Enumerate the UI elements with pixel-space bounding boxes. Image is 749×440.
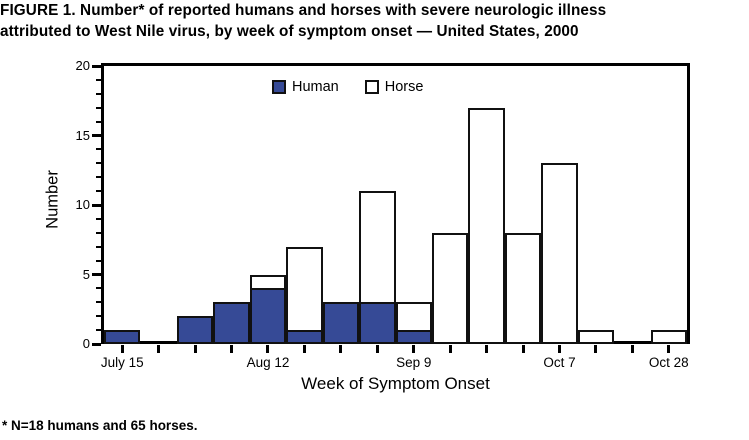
x-axis-tick <box>230 345 233 353</box>
x-axis-tick <box>485 345 488 353</box>
x-axis-tick <box>157 345 160 353</box>
y-axis-tick-minor <box>96 148 101 150</box>
x-axis-tick <box>522 345 525 353</box>
x-axis-tick <box>266 345 269 353</box>
y-axis-tick-minor <box>96 121 101 123</box>
x-axis-tick <box>376 345 379 353</box>
legend-item-human: Human <box>272 80 339 95</box>
y-axis-tick-label: 20 <box>60 58 90 73</box>
x-axis-tick <box>449 345 452 353</box>
x-axis-tick-label: Aug 12 <box>247 355 290 370</box>
y-axis-tick-minor <box>96 287 101 289</box>
y-axis-tick-label: 10 <box>60 197 90 212</box>
legend-item-horse: Horse <box>365 80 424 95</box>
y-axis-tick-minor <box>96 315 101 317</box>
bar-human <box>213 302 249 344</box>
bar-human <box>359 302 395 344</box>
bar-human <box>250 288 286 344</box>
y-axis-tick-minor <box>96 218 101 220</box>
x-axis-tick-label: Oct 28 <box>649 355 689 370</box>
chart-area: 05101520 Number Human Horse Week of Symp… <box>0 0 749 440</box>
y-axis-tick-minor <box>96 107 101 109</box>
x-axis-tick <box>121 345 124 353</box>
figure-footnote: * N=18 humans and 65 horses. <box>2 418 742 433</box>
legend-swatch-human-icon <box>272 80 286 94</box>
y-axis-tick-major <box>92 134 101 137</box>
y-axis-tick-minor <box>96 176 101 178</box>
bar-horse <box>541 163 577 344</box>
bar-horse <box>505 233 541 344</box>
x-axis-tick <box>558 345 561 353</box>
x-axis-tick <box>594 345 597 353</box>
x-axis-tick-label: Sep 9 <box>396 355 431 370</box>
y-axis-title: Number <box>44 140 63 260</box>
y-axis-tick-minor <box>96 246 101 248</box>
y-axis-tick-major <box>92 273 101 276</box>
bar-human <box>177 316 213 344</box>
legend-swatch-horse-icon <box>365 80 379 94</box>
y-axis-tick-minor <box>96 329 101 331</box>
bar-human <box>104 330 140 344</box>
bar-human <box>396 330 432 344</box>
x-axis-tick <box>667 345 670 353</box>
y-axis-tick-minor <box>96 301 101 303</box>
bar-horse <box>432 233 468 344</box>
x-axis-tick <box>339 345 342 353</box>
x-axis-tick-label: July 15 <box>101 355 144 370</box>
y-axis-tick-label: 15 <box>60 128 90 143</box>
bar-horse <box>578 330 614 344</box>
bar-human <box>286 330 322 344</box>
y-axis-tick-label: 5 <box>60 267 90 282</box>
x-axis-title: Week of Symptom Onset <box>101 374 690 394</box>
y-axis-tick-minor <box>96 79 101 81</box>
bar-human <box>323 302 359 344</box>
y-axis-tick-major <box>92 65 101 68</box>
y-axis-tick-minor <box>96 93 101 95</box>
y-axis-tick-major <box>92 204 101 207</box>
legend-label-horse: Horse <box>385 80 424 95</box>
chart-legend: Human Horse <box>272 80 423 95</box>
footnote-text: N=18 humans and 65 horses. <box>7 418 197 433</box>
bar-horse <box>651 330 687 344</box>
y-axis-tick-minor <box>96 162 101 164</box>
y-axis-tick-label: 0 <box>60 336 90 351</box>
y-axis-tick-major <box>92 343 101 346</box>
x-axis-tick-label: Oct 7 <box>543 355 575 370</box>
y-axis-tick-minor <box>96 260 101 262</box>
bar-horse <box>468 108 504 344</box>
legend-label-human: Human <box>292 80 339 95</box>
x-axis-tick <box>303 345 306 353</box>
bars-layer <box>104 66 687 344</box>
x-axis-tick <box>631 345 634 353</box>
y-axis-tick-minor <box>96 190 101 192</box>
y-axis-tick-minor <box>96 232 101 234</box>
x-axis-tick <box>194 345 197 353</box>
x-axis-tick <box>412 345 415 353</box>
